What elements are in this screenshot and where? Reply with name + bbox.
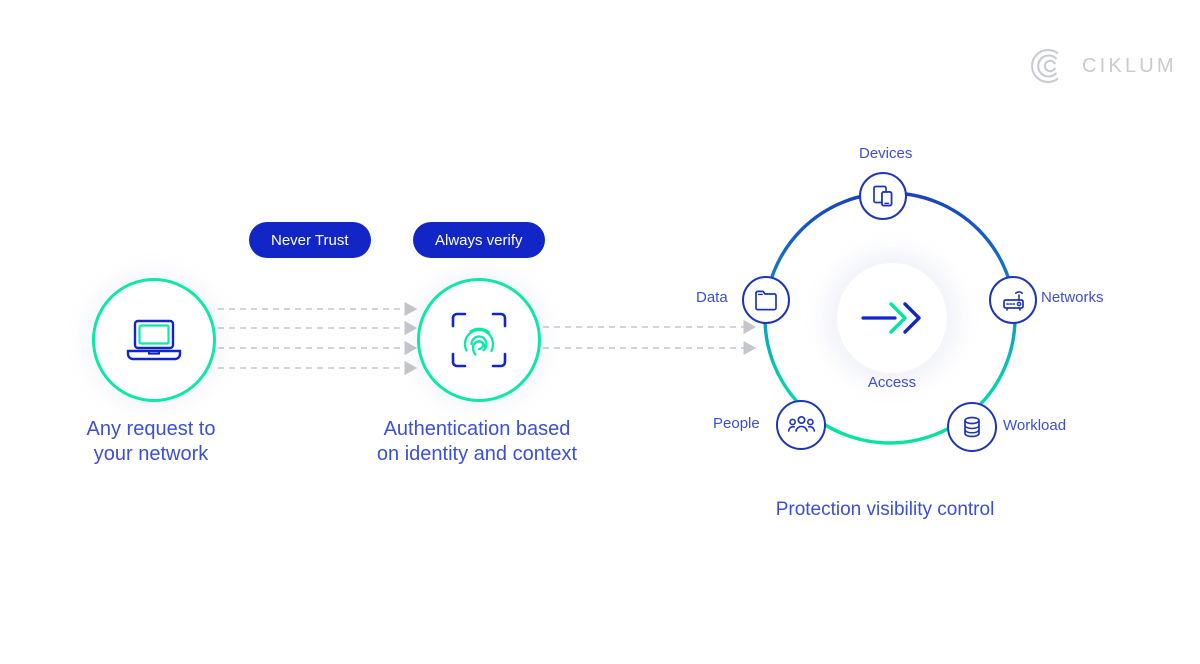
caption-any-request: Any request to your network bbox=[21, 417, 281, 467]
double-chevron-arrow-icon bbox=[861, 298, 923, 338]
ring-node-networks[interactable] bbox=[989, 276, 1037, 324]
router-wifi-icon bbox=[1001, 288, 1026, 312]
devices-tablet-phone-icon bbox=[871, 184, 895, 208]
ring-node-devices[interactable] bbox=[859, 172, 907, 220]
label-data: Data bbox=[696, 289, 728, 306]
badge-never-trust[interactable]: Never Trust bbox=[249, 222, 371, 258]
label-workload: Workload bbox=[1003, 417, 1066, 434]
caption-authentication: Authentication based on identity and con… bbox=[347, 417, 607, 467]
caption-protection-visibility-control: Protection visibility control bbox=[735, 497, 1035, 522]
ring-node-data[interactable] bbox=[742, 276, 790, 324]
laptop-icon bbox=[123, 315, 185, 365]
folder-icon bbox=[754, 289, 778, 311]
fingerprint-scan-icon bbox=[449, 310, 509, 370]
badge-always-verify[interactable]: Always verify bbox=[413, 222, 545, 258]
protection-ring: Access Devices bbox=[742, 168, 1032, 468]
label-people: People bbox=[713, 415, 760, 432]
ring-node-workload[interactable] bbox=[947, 402, 997, 452]
people-group-icon bbox=[788, 414, 815, 436]
ring-node-people[interactable] bbox=[776, 400, 826, 450]
label-access: Access bbox=[837, 374, 947, 391]
database-cylinder-icon bbox=[960, 415, 984, 439]
label-devices: Devices bbox=[859, 145, 903, 162]
label-networks: Networks bbox=[1041, 289, 1104, 306]
node-any-request[interactable] bbox=[92, 278, 216, 402]
node-authentication[interactable] bbox=[417, 278, 541, 402]
diagram-canvas: CIKLUM Never Trust Always verify bbox=[0, 0, 1200, 664]
access-center bbox=[837, 263, 947, 373]
